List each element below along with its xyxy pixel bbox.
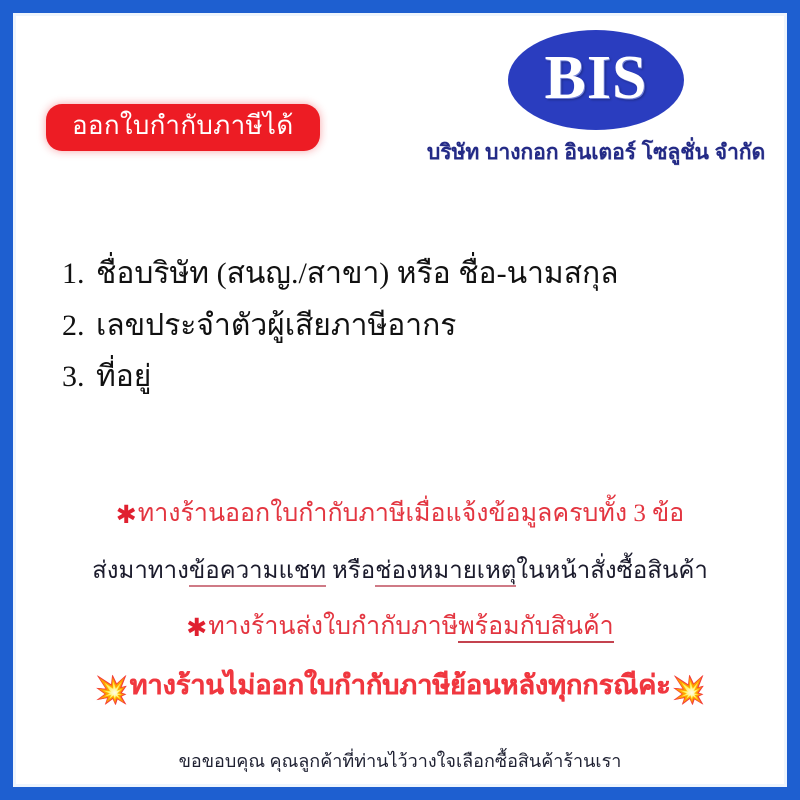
company-name-label: บริษัท บางกอก อินเตอร์ โซลูชั่น จำกัด (416, 136, 776, 169)
bis-logo-icon: BIS (508, 30, 684, 130)
note-condition-text: ทางร้านออกใบกำกับภาษีเมื่อแจ้งข้อมูลครบท… (138, 500, 684, 527)
thanks-text: ขอขอบคุณ คุณลูกค้าที่ท่านไว้วางใจเลือกซื… (179, 751, 622, 771)
list-item-number: 2. (62, 300, 96, 352)
poster-canvas: ออกใบกำกับภาษีได้ BIS บริษัท บางกอก อินเ… (16, 16, 784, 784)
asterisk-marker-icon: ✱ (186, 601, 207, 657)
poster-header: ออกใบกำกับภาษีได้ BIS บริษัท บางกอก อินเ… (16, 16, 784, 191)
logo-ellipse-wrap: BIS (416, 30, 776, 130)
frame-border-right (787, 0, 800, 800)
requirements-list: 1. ชื่อบริษัท (สนญ./สาขา) หรือ ชื่อ-นามส… (62, 248, 762, 403)
frame-border-top (0, 0, 800, 13)
note-line-no-backdated: 💥ทางร้านไม่ออกใบกำกับภาษีย้อนหลังทุกกรณี… (16, 656, 784, 721)
asterisk-marker-icon: ✱ (116, 488, 137, 544)
list-item-number: 1. (62, 248, 96, 300)
list-item-label: ที่อยู่ (96, 351, 151, 403)
note-channels-prefix: ส่งมาทาง (92, 558, 189, 584)
note-channel-order-remark: ช่องหมายเหตุ (375, 558, 516, 587)
frame-border-bottom (0, 787, 800, 800)
note-no-backdated-text: ทางร้านไม่ออกใบกำกับภาษีย้อนหลังทุกกรณีค… (129, 670, 670, 700)
list-item: 3. ที่อยู่ (62, 351, 762, 403)
list-item-label: เลขประจำตัวผู้เสียภาษีอากร (96, 300, 456, 352)
note-channels-suffix: ในหน้าสั่งซื้อสินค้า (516, 558, 707, 584)
note-delivery-prefix: ทางร้านส่งใบกำกับภาษี (208, 613, 458, 640)
frame-border-left (0, 0, 13, 800)
notes-block: ✱ทางร้านออกใบกำกับภาษีเมื่อแจ้งข้อมูลครบ… (16, 486, 784, 781)
note-line-condition: ✱ทางร้านออกใบกำกับภาษีเมื่อแจ้งข้อมูลครบ… (16, 486, 784, 544)
logo-mark-text: BIS (545, 47, 648, 109)
badge-label: ออกใบกำกับภาษีได้ (72, 111, 294, 140)
poster-root: ออกใบกำกับภาษีได้ BIS บริษัท บางกอก อินเ… (0, 0, 800, 800)
note-line-thanks: ขอขอบคุณ คุณลูกค้าที่ท่านไว้วางใจเลือกซื… (16, 743, 784, 781)
list-item-label: ชื่อบริษัท (สนญ./สาขา) หรือ ชื่อ-นามสกุล (96, 248, 619, 300)
company-logo-block: BIS บริษัท บางกอก อินเตอร์ โซลูชั่น จำกั… (416, 30, 776, 169)
list-item: 1. ชื่อบริษัท (สนญ./สาขา) หรือ ชื่อ-นามส… (62, 248, 762, 300)
note-delivery-highlight: พร้อมกับสินค้า (458, 613, 614, 643)
list-item: 2. เลขประจำตัวผู้เสียภาษีอากร (62, 300, 762, 352)
explosion-icon-right: 💥 (672, 661, 706, 721)
explosion-icon-left: 💥 (95, 661, 129, 721)
note-line-delivery: ✱ทางร้านส่งใบกำกับภาษีพร้อมกับสินค้า (16, 599, 784, 657)
list-item-number: 3. (62, 351, 96, 403)
note-channel-chat: ข้อความแชท (189, 558, 326, 587)
tax-invoice-available-badge: ออกใบกำกับภาษีได้ (46, 104, 320, 151)
note-channels-conjunction: หรือ (326, 558, 375, 584)
note-line-channels: ส่งมาทางข้อความแชท หรือช่องหมายเหตุในหน้… (16, 544, 784, 599)
